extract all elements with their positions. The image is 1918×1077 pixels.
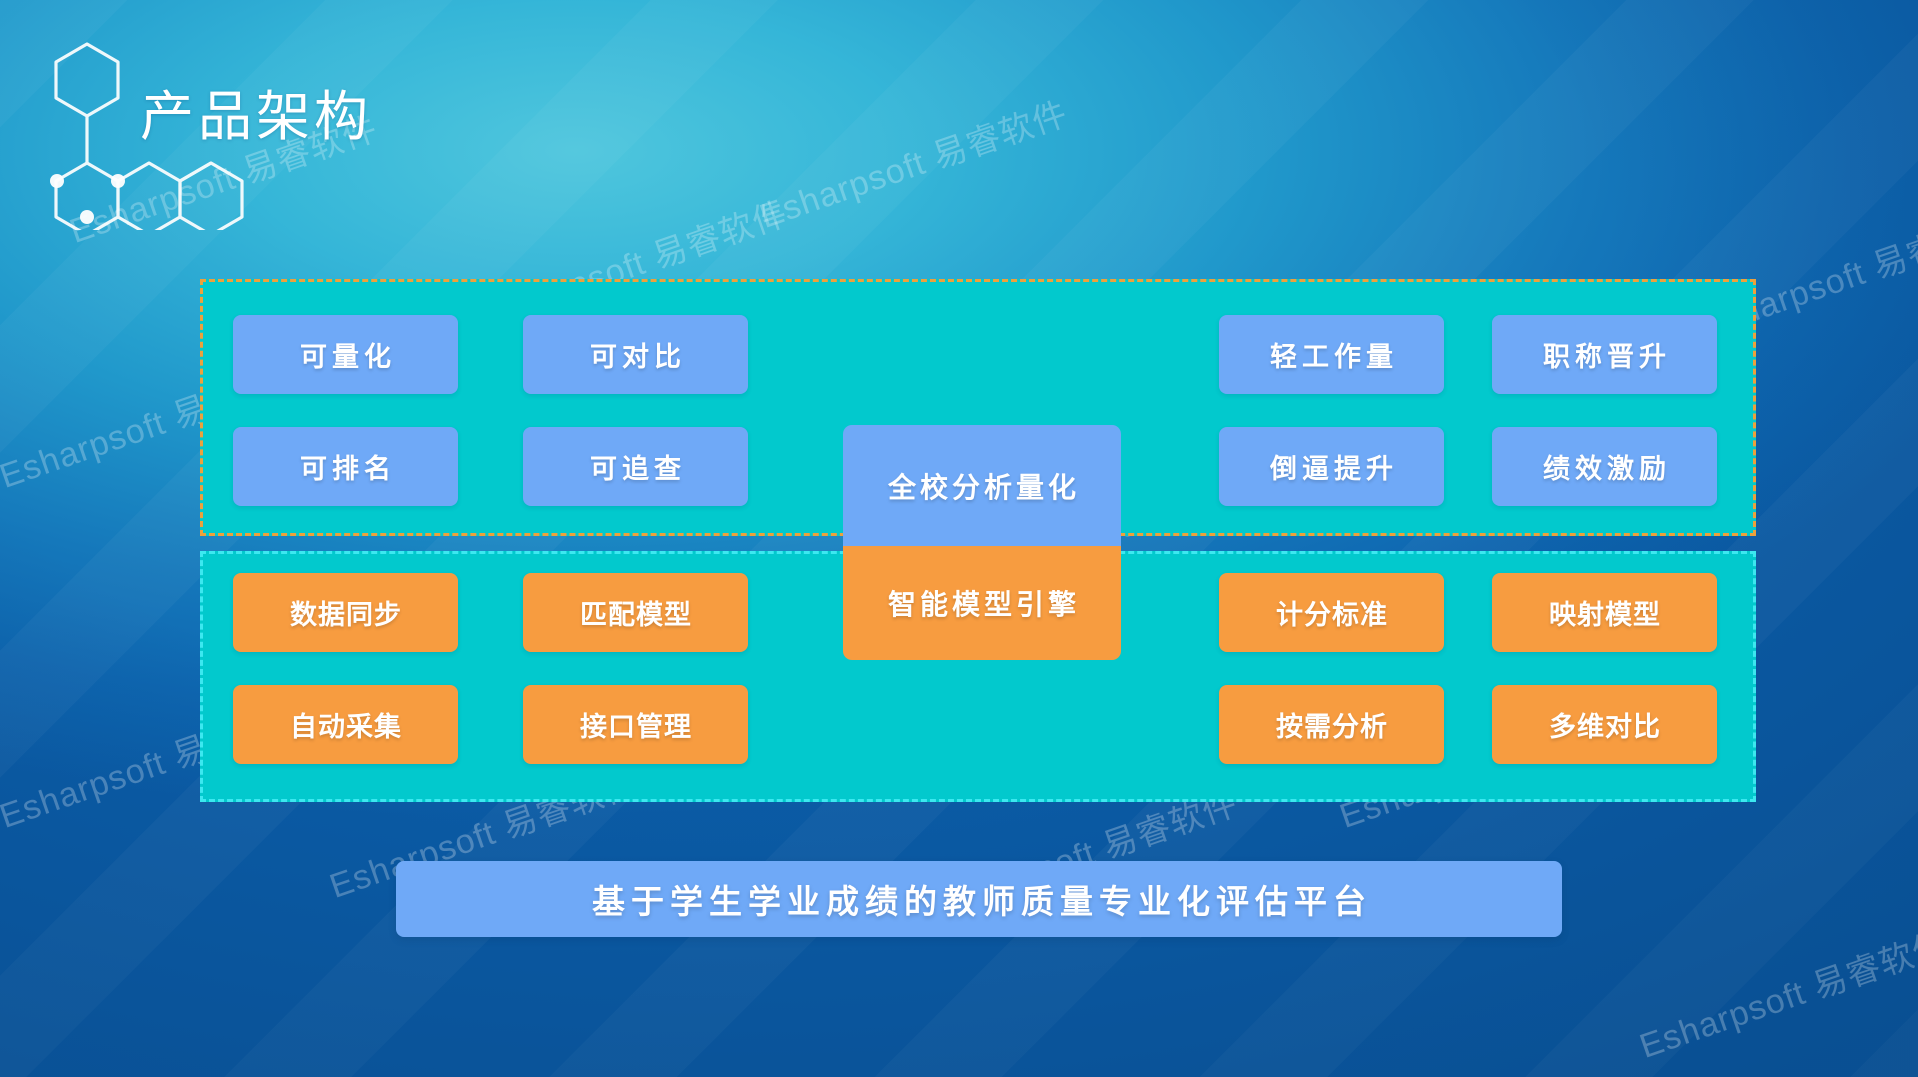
card-capability-layer-1[interactable]: 匹配模型	[523, 573, 748, 652]
card-capability-layer-4[interactable]: 自动采集	[233, 685, 458, 764]
platform-banner: 基于学生学业成绩的教师质量专业化评估平台	[396, 861, 1562, 937]
card-value-layer-5[interactable]: 可追查	[523, 427, 748, 506]
card-capability-layer-7[interactable]: 多维对比	[1492, 685, 1717, 764]
core-engine-stack: 全校分析量化 智能模型引擎	[843, 425, 1121, 660]
card-capability-layer-6[interactable]: 按需分析	[1219, 685, 1444, 764]
page-title: 产品架构	[140, 72, 372, 151]
card-capability-layer-0[interactable]: 数据同步	[233, 573, 458, 652]
core-card-model-engine[interactable]: 智能模型引擎	[843, 546, 1121, 660]
card-capability-layer-5[interactable]: 接口管理	[523, 685, 748, 764]
card-capability-layer-2[interactable]: 计分标准	[1219, 573, 1444, 652]
card-value-layer-4[interactable]: 可排名	[233, 427, 458, 506]
card-value-layer-1[interactable]: 可对比	[523, 315, 748, 394]
core-card-school-analysis[interactable]: 全校分析量化	[843, 425, 1121, 546]
card-value-layer-2[interactable]: 轻工作量	[1219, 315, 1444, 394]
card-capability-layer-3[interactable]: 映射模型	[1492, 573, 1717, 652]
card-value-layer-7[interactable]: 绩效激励	[1492, 427, 1717, 506]
card-value-layer-3[interactable]: 职称晋升	[1492, 315, 1717, 394]
card-value-layer-6[interactable]: 倒逼提升	[1219, 427, 1444, 506]
card-value-layer-0[interactable]: 可量化	[233, 315, 458, 394]
